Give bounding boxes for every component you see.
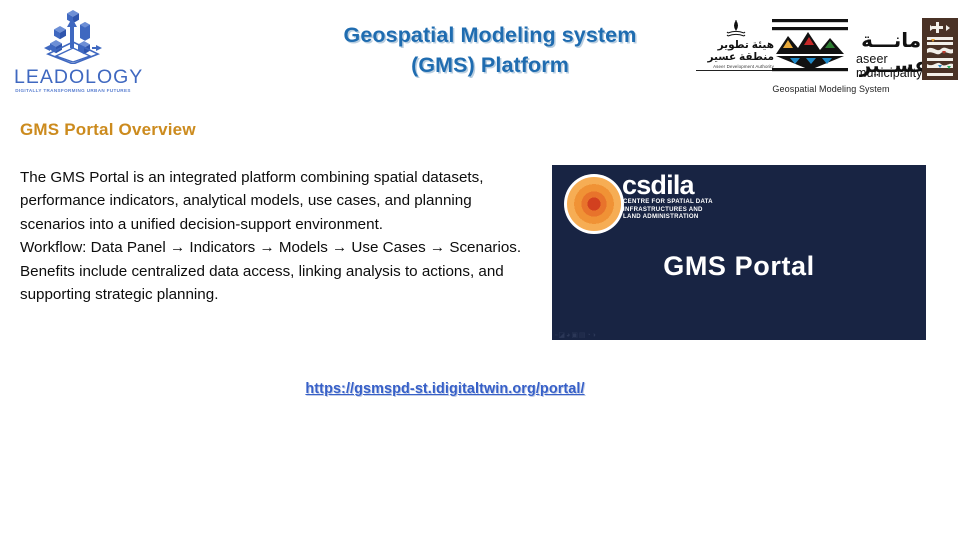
- aseer-english-name: aseer municipality: [856, 52, 928, 80]
- csdila-wordmark: csdila: [622, 171, 694, 199]
- slide-canvas: LEADOLOGY DIGITALLY TRANSFORMING URBAN F…: [0, 0, 960, 540]
- slide-header: LEADOLOGY DIGITALLY TRANSFORMING URBAN F…: [0, 0, 960, 110]
- ada-arabic-name: هيئة تطوير منطقة عسير: [707, 40, 774, 63]
- aseer-mountains-mark-icon: [770, 18, 850, 76]
- portal-url-link[interactable]: https://gsmspd-st.idigitaltwin.org/porta…: [0, 381, 890, 397]
- panel-title: GMS Portal: [552, 251, 926, 282]
- csdila-subtitle: CENTRE FOR SPATIAL DATA INFRASTRUCTURES …: [623, 198, 713, 221]
- aseer-development-authority-logo: هيئة تطوير منطقة عسير Aseer Development …: [696, 18, 774, 76]
- overview-body-text: The GMS Portal is an integrated platform…: [20, 166, 532, 306]
- slide-title: Geospatial Modeling system (GMS) Platfor…: [300, 20, 680, 80]
- overview-paragraph-3: Benefits include centralized data access…: [20, 260, 532, 307]
- leadology-isometric-buildings-icon: [42, 8, 104, 64]
- partner-caption: Geospatial Modeling System: [724, 84, 938, 94]
- slide-title-line-1: Geospatial Modeling system: [300, 20, 680, 50]
- overview-paragraph-2: Workflow: Data Panel → Indicators → Mode…: [20, 236, 532, 259]
- leadology-wordmark: LEADOLOGY: [14, 66, 132, 88]
- slide-title-line-2: (GMS) Platform: [300, 50, 680, 80]
- al-qatt-al-asiri-pattern-icon: [922, 18, 958, 80]
- gms-portal-screenshot-panel: csdila CENTRE FOR SPATIAL DATA INFRASTRU…: [552, 165, 926, 340]
- section-heading: GMS Portal Overview: [20, 120, 196, 140]
- leadology-tagline: DIGITALLY TRANSFORMING URBAN FUTURES: [14, 88, 132, 93]
- aseer-municipality-logo: أمانـــة عســير aseer municipality: [770, 16, 928, 78]
- csdila-concentric-circle-icon: [564, 174, 624, 234]
- saudi-palm-swords-emblem-icon: [726, 18, 746, 40]
- overview-paragraph-1: The GMS Portal is an integrated platform…: [20, 166, 532, 236]
- ada-divider: [696, 70, 774, 71]
- ada-english-name: Aseer Development Authority: [713, 64, 774, 69]
- panel-toolbar-icons: ▫◪◕▣▤◔◑: [555, 331, 597, 339]
- partner-logos: هيئة تطوير منطقة عسير Aseer Development …: [694, 12, 960, 108]
- leadology-logo: LEADOLOGY DIGITALLY TRANSFORMING URBAN F…: [14, 8, 132, 98]
